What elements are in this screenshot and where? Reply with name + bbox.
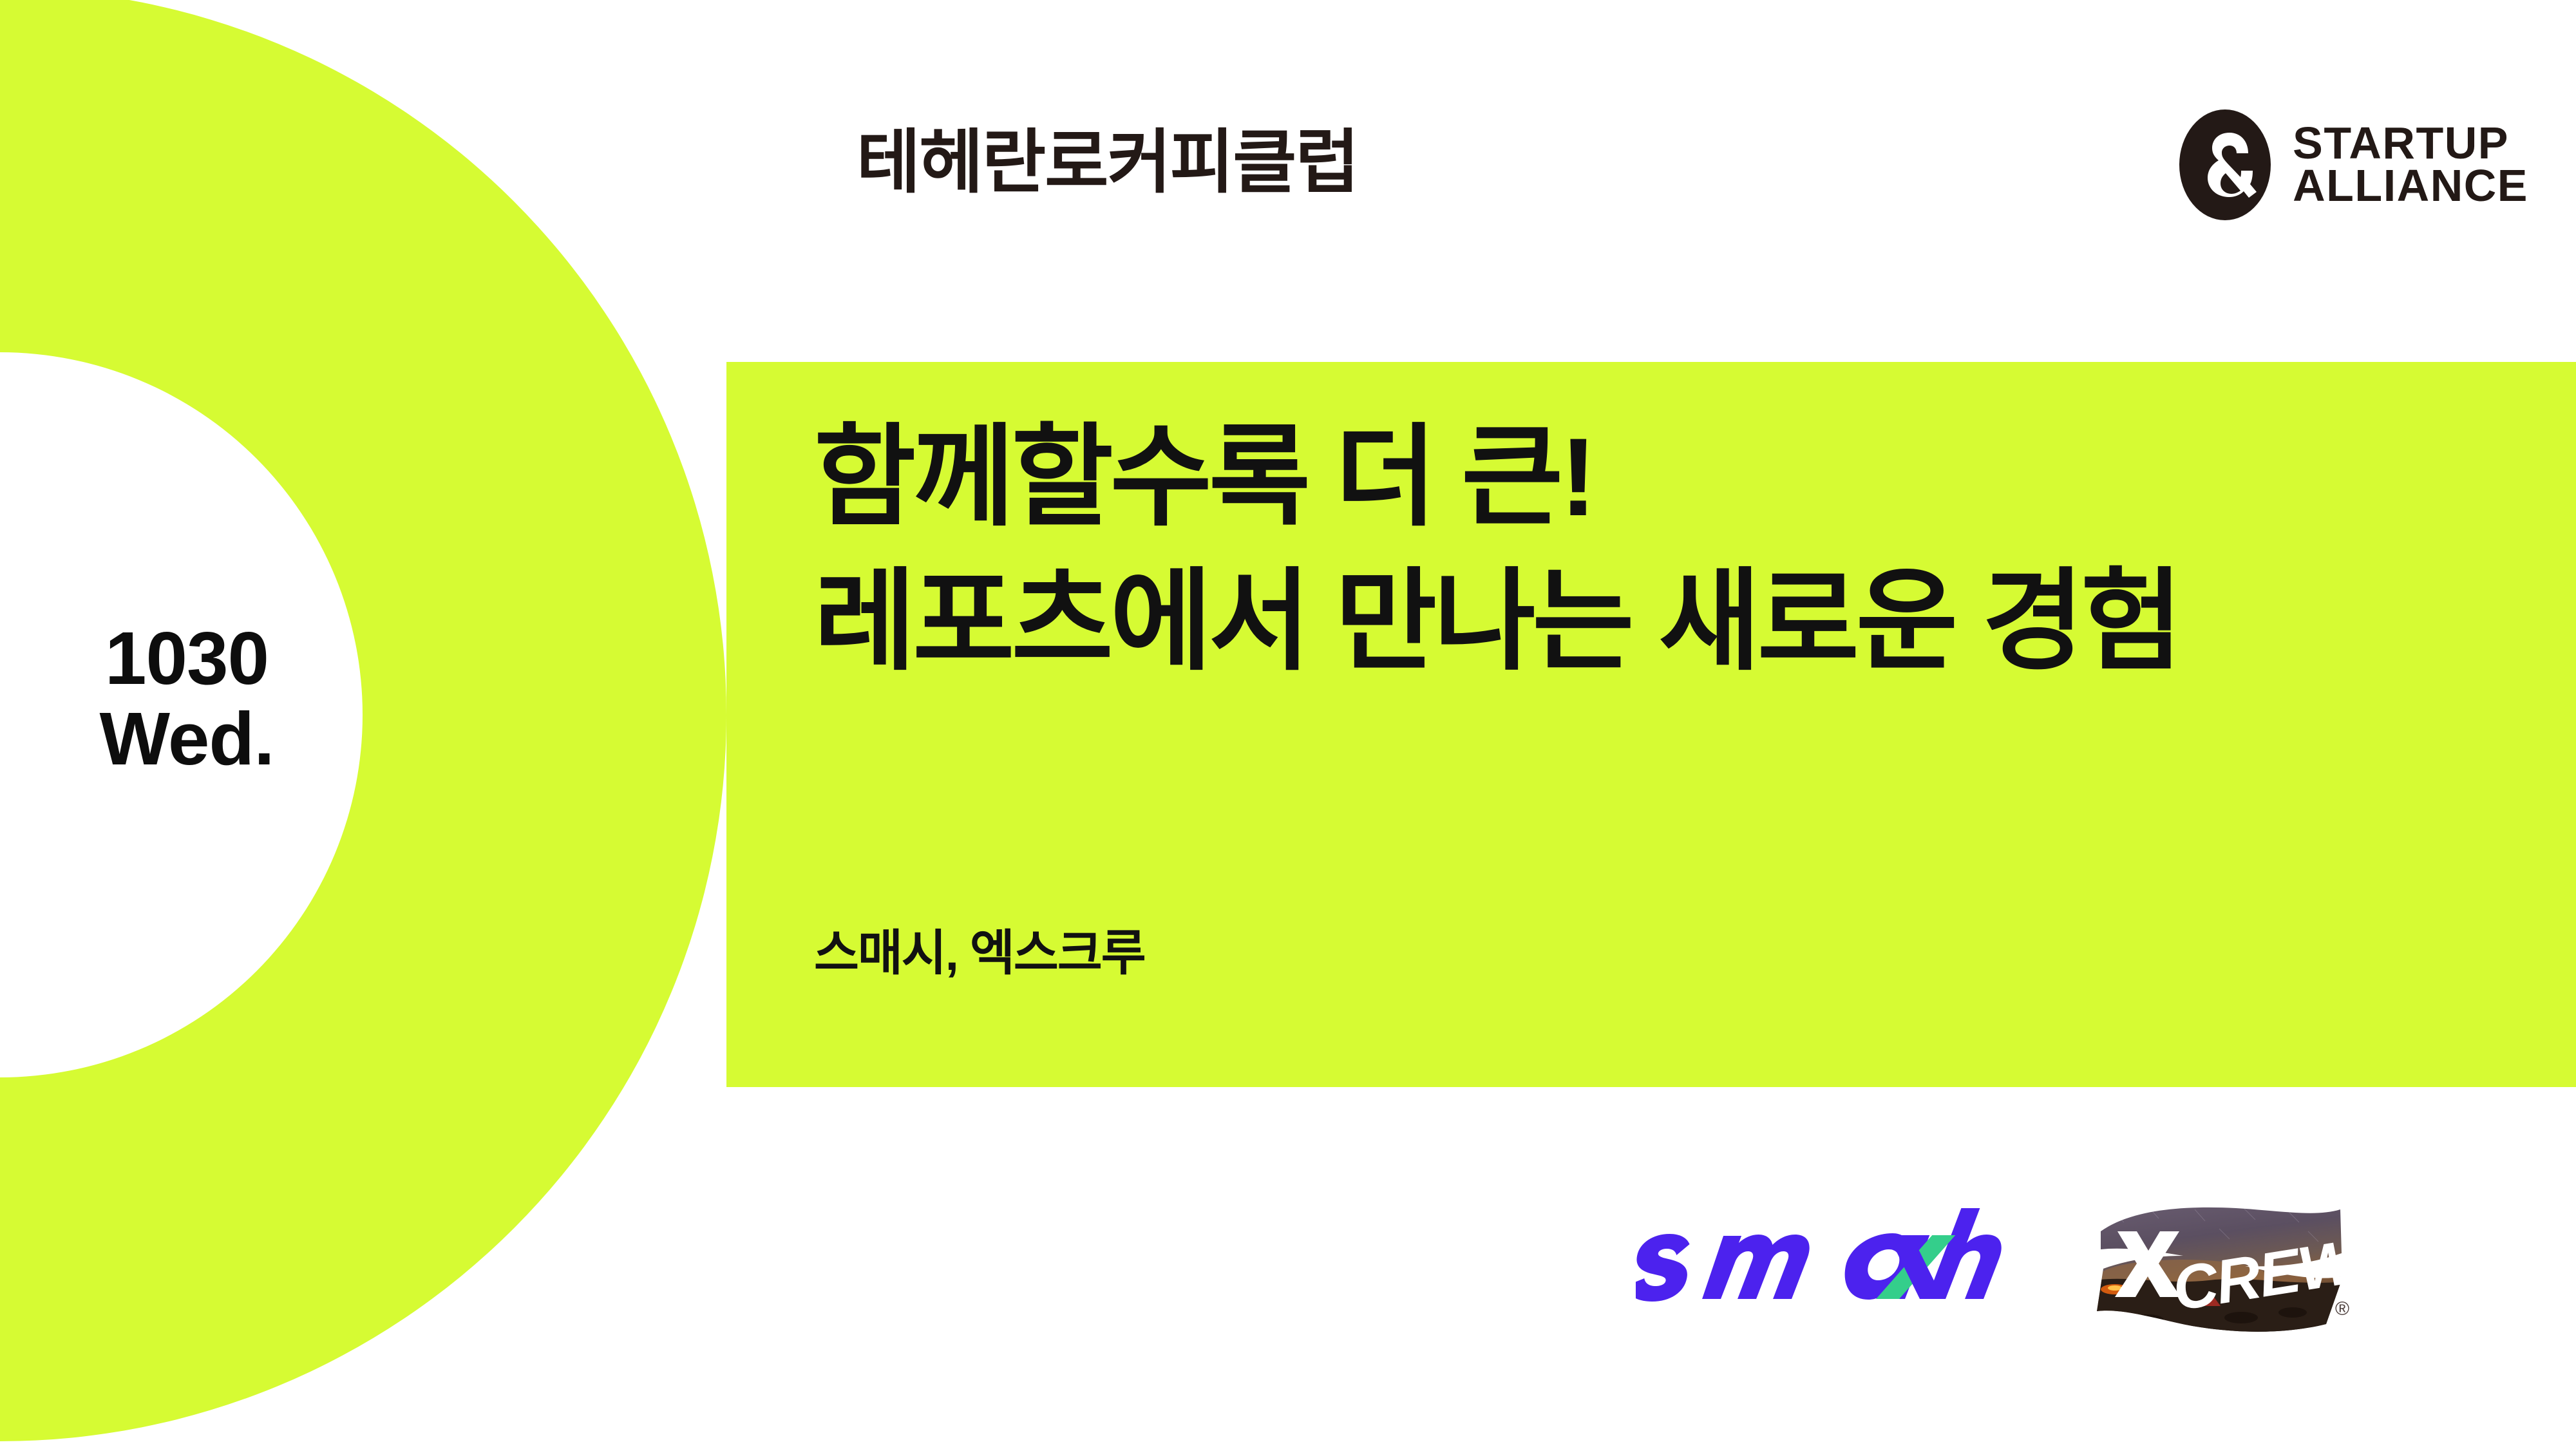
club-name-kicker: 테헤란로커피클럽 xyxy=(857,128,1358,197)
event-headline: 함께할수록 더 큰! 레포츠에서 만나는 새로운 경험 xyxy=(814,406,2179,694)
smaxh-logo xyxy=(1636,1203,2009,1325)
startup-alliance-logo: STARTUP ALLIANCE xyxy=(2179,109,2528,220)
event-subtitle: 스매시, 엑스크루 xyxy=(814,913,1145,984)
event-poster: 테헤란로커피클럽 STARTUP ALLIANCE 1030 Wed. 함께할수… xyxy=(0,0,2576,1449)
headline-line-1: 함께할수록 더 큰! xyxy=(814,406,2179,550)
event-date-block: 1030 Wed. xyxy=(52,618,322,780)
ampersand-circle-icon xyxy=(2179,109,2271,220)
xcrew-registered-icon: ® xyxy=(2335,1298,2349,1320)
xcrew-logo: CREW ® xyxy=(2087,1191,2357,1340)
headline-line-2: 레포츠에서 만나는 새로운 경험 xyxy=(814,550,2179,694)
sa-line-alliance: ALLIANCE xyxy=(2293,165,2528,207)
event-date-weekday: Wed. xyxy=(52,699,322,779)
sa-line-startup: STARTUP xyxy=(2293,122,2528,165)
event-date-number: 1030 xyxy=(52,618,322,699)
startup-alliance-wordmark: STARTUP ALLIANCE xyxy=(2293,122,2528,207)
